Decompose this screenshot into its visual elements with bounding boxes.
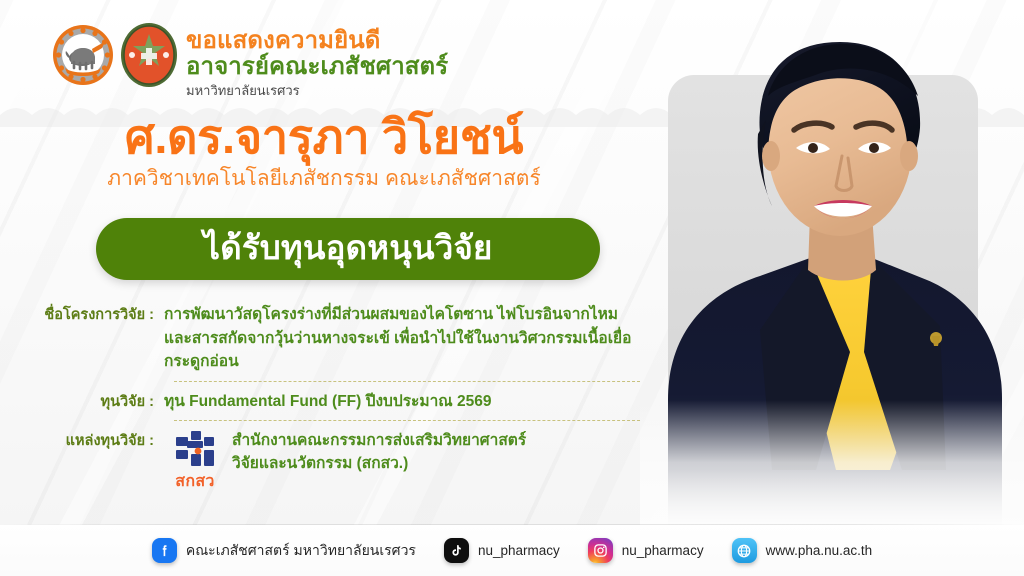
award-banner: ได้รับทุนอุดหนุนวิจัย [96,218,600,280]
tsri-wordmark: สกสว [164,474,226,490]
row-divider [174,381,640,382]
social-facebook[interactable]: คณะเภสัชศาสตร์ มหาวิทยาลัยนเรศวร [152,538,416,563]
pharmacy-faculty-seal-icon [120,22,178,88]
tsri-logo: สกสว [164,429,226,490]
funder-text: สำนักงานคณะกรรมการส่งเสริมวิทยาศาสตร์ วิ… [226,429,640,476]
detail-list: ชื่อโครงการวิจัย : การพัฒนาวัสดุโครงร่าง… [22,303,640,490]
tiktok-icon[interactable] [444,538,469,563]
detail-label: ทุนวิจัย : [22,390,164,413]
honoree-name-block: ศ.ดร.จารุภา วิโยชน์ ภาควิชาเทคโนโลยีเภสั… [0,112,648,192]
social-instagram[interactable]: nu_pharmacy [588,538,704,563]
instagram-icon[interactable] [588,538,613,563]
page-title: ศ.ดร.จารุภา วิโยชน์ [0,112,648,162]
naresuan-university-seal-icon [52,24,114,86]
social-website[interactable]: www.pha.nu.ac.th [732,538,873,563]
funder-text-line-2: วิจัยและนวัตกรรม (สกสว.) [232,452,640,475]
social-label: nu_pharmacy [478,543,560,558]
header-line-2: อาจารย์คณะเภสัชศาสตร์ [186,54,448,81]
detail-row-funder: แหล่งทุนวิจัย : สกสว [22,429,640,490]
social-label: คณะเภสัชศาสตร์ มหาวิทยาลัยนเรศวร [186,540,416,562]
detail-label: ชื่อโครงการวิจัย : [22,303,164,326]
social-label: www.pha.nu.ac.th [766,543,873,558]
facebook-icon[interactable] [152,538,177,563]
funder-text-line-1: สำนักงานคณะกรรมการส่งเสริมวิทยาศาสตร์ [232,429,640,452]
award-banner-label: ได้รับทุนอุดหนุนวิจัย [203,231,492,267]
detail-value: ทุน Fundamental Fund (FF) ปีงบประมาณ 256… [164,390,640,414]
congratulation-poster: ขอแสดงความยินดี อาจารย์คณะเภสัชศาสตร์ มห… [0,0,1024,576]
poster-header: ขอแสดงความยินดี อาจารย์คณะเภสัชศาสตร์ มห… [0,0,660,102]
detail-label: แหล่งทุนวิจัย : [22,429,164,452]
detail-value: การพัฒนาวัสดุโครงร่างที่มีส่วนผสมของไคโต… [164,303,640,374]
header-line-3: มหาวิทยาลัยนเรศวร [186,82,448,100]
honoree-department: ภาควิชาเทคโนโลยีเภสัชกรรม คณะเภสัชศาสตร์ [0,165,648,192]
portrait-photo [640,0,1024,530]
detail-row-grant: ทุนวิจัย : ทุน Fundamental Fund (FF) ปีง… [22,390,640,414]
website-icon[interactable] [732,538,757,563]
detail-row-project: ชื่อโครงการวิจัย : การพัฒนาวัสดุโครงร่าง… [22,303,640,374]
social-label: nu_pharmacy [622,543,704,558]
tsri-mark-icon [172,431,218,471]
row-divider [174,420,640,421]
social-tiktok[interactable]: nu_pharmacy [444,538,560,563]
header-line-1: ขอแสดงความยินดี [186,28,448,54]
footer-social-bar: คณะเภสัชศาสตร์ มหาวิทยาลัยนเรศวร nu_phar… [0,525,1024,576]
